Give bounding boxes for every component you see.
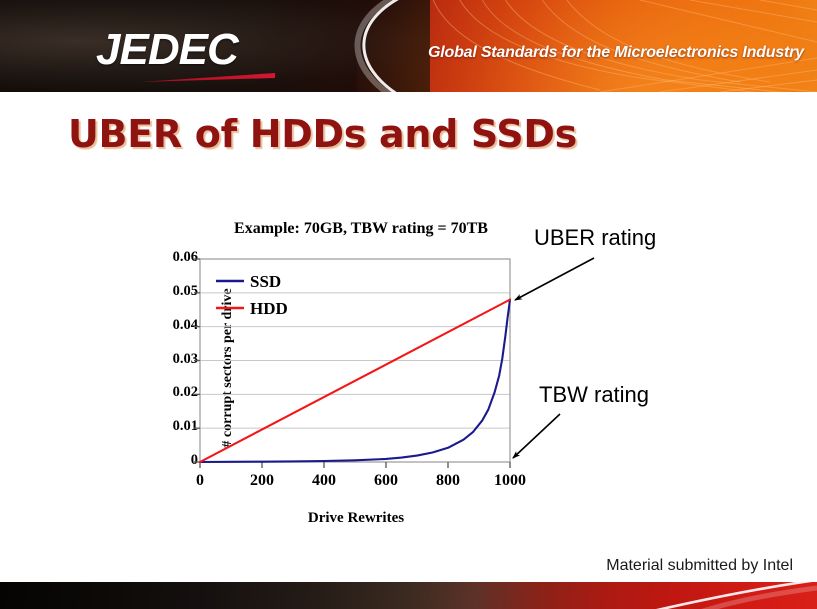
jedec-logo-text: JEDEC [96,28,296,72]
bottom-banner-decoration [0,582,817,609]
footer-credit: Material submitted by Intel [606,557,793,575]
chart-plot: SSDHDD [0,200,560,540]
banner-tagline: Global Standards for the Microelectronic… [428,44,804,62]
legend-label-hdd: HDD [250,299,288,318]
bottom-banner [0,582,817,609]
chart-container: Example: 70GB, TBW rating = 70TB # corru… [0,200,560,540]
jedec-logo-swoosh [140,73,275,82]
series-line-hdd [200,300,510,462]
callout-tbw-rating: TBW rating [539,382,649,408]
page-title: UBER of HDDs and SSDs [68,112,577,156]
callout-uber-rating: UBER rating [534,225,656,251]
legend-label-ssd: SSD [250,272,281,291]
top-banner: JEDEC Global Standards for the Microelec… [0,0,817,92]
jedec-logo: JEDEC [96,28,296,82]
chart-legend: SSDHDD [216,272,288,318]
